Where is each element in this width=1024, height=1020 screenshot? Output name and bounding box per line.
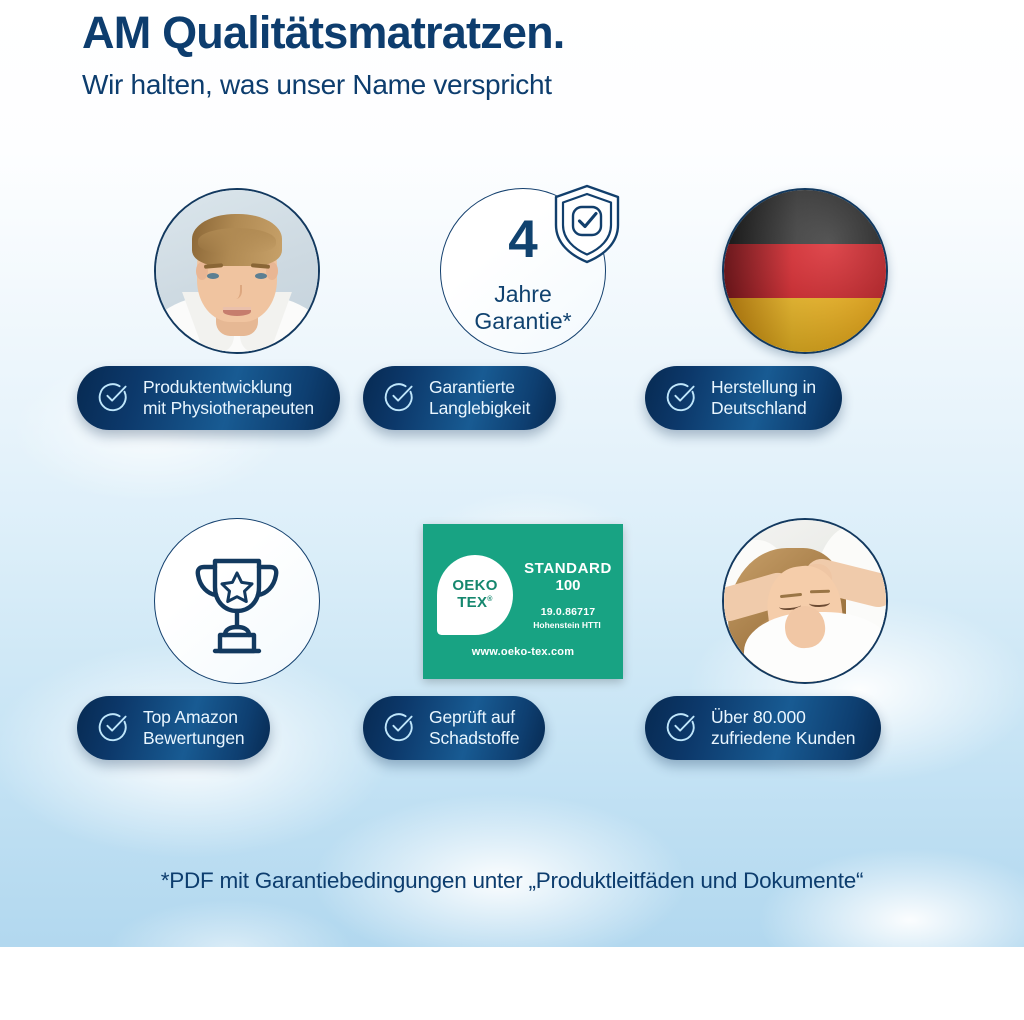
oeko-tex-label: OEKO TEX® STANDARD 100 19.0.86717 Hohens…	[423, 524, 623, 679]
pill-line-2: Bewertungen	[143, 728, 244, 748]
pill-line-2: Schadstoffe	[429, 728, 519, 748]
feature-media	[645, 176, 965, 366]
pill-line-1: Garantierte	[429, 377, 515, 397]
feature-pill[interactable]: Produktentwicklung mit Physiotherapeuten	[77, 366, 340, 430]
oeko-tex-standard-line-2: 100	[519, 577, 617, 595]
feature-pill-wrap: Garantierte Langlebigkeit	[363, 366, 683, 444]
oeko-tex-brand-line-2: TEX®	[457, 595, 493, 611]
pill-line-1: Produktentwicklung	[143, 377, 292, 397]
feature-media: 4 Jahre Garantie*	[363, 176, 683, 366]
feature-card-kunden: Über 80.000 zufriedene Kunden	[645, 506, 965, 774]
header: AM Qualitätsmatratzen. Wir halten, was u…	[82, 8, 565, 101]
check-circle-icon	[665, 380, 697, 417]
feature-pill-label: Über 80.000 zufriedene Kunden	[711, 707, 855, 750]
feature-pill-label: Geprüft auf Schadstoffe	[429, 707, 519, 750]
page-title: AM Qualitätsmatratzen.	[82, 8, 565, 58]
oeko-tex-standard-line-1: STANDARD	[519, 560, 617, 577]
pill-line-2: mit Physiotherapeuten	[143, 398, 314, 418]
feature-pill-wrap: Top Amazon Bewertungen	[77, 696, 397, 774]
feature-pill[interactable]: Top Amazon Bewertungen	[77, 696, 270, 760]
oeko-tex-brand-line-1: OEKO	[452, 578, 497, 594]
feature-pill-label: Produktentwicklung mit Physiotherapeuten	[143, 377, 314, 420]
feature-pill-label: Herstellung in Deutschland	[711, 377, 816, 420]
feature-pill[interactable]: Geprüft auf Schadstoffe	[363, 696, 545, 760]
feature-row-2: Top Amazon Bewertungen OEKO TEX® STANDAR…	[0, 506, 1024, 836]
pill-line-1: Top Amazon	[143, 707, 238, 727]
oeko-tex-url: www.oeko-tex.com	[423, 646, 623, 658]
pill-line-2: Deutschland	[711, 398, 807, 418]
feature-media	[77, 506, 397, 696]
feature-pill-wrap: Geprüft auf Schadstoffe	[363, 696, 683, 774]
feature-card-herstellung: Herstellung in Deutschland	[645, 176, 965, 444]
feature-media: OEKO TEX® STANDARD 100 19.0.86717 Hohens…	[363, 506, 683, 696]
registered-mark-icon: ®	[487, 596, 492, 603]
oeko-tex-certificate-number: 19.0.86717	[519, 606, 617, 618]
oeko-tex-drop-logo: OEKO TEX®	[437, 555, 513, 635]
feature-pill-label: Top Amazon Bewertungen	[143, 707, 244, 750]
oeko-tex-institute: Hohenstein HTTI	[513, 620, 621, 630]
feature-pill[interactable]: Über 80.000 zufriedene Kunden	[645, 696, 881, 760]
pill-line-2: Langlebigkeit	[429, 398, 530, 418]
oeko-tex-standard: STANDARD 100	[519, 560, 617, 595]
check-circle-icon	[383, 380, 415, 417]
shield-check-icon	[551, 183, 623, 270]
feature-card-garantie: 4 Jahre Garantie*	[363, 176, 683, 444]
pill-line-2: zufriedene Kunden	[711, 728, 855, 748]
feature-pill-label: Garantierte Langlebigkeit	[429, 377, 530, 420]
feature-pill-wrap: Produktentwicklung mit Physiotherapeuten	[77, 366, 397, 444]
guarantee-circle: 4 Jahre Garantie*	[440, 188, 606, 354]
guarantee-line-1: Jahre	[441, 281, 605, 308]
feature-row-1: Produktentwicklung mit Physiotherapeuten…	[0, 176, 1024, 506]
pill-line-1: Herstellung in	[711, 377, 816, 397]
portrait-female-sleeping-photo	[722, 518, 888, 684]
german-flag-icon	[722, 188, 888, 354]
check-circle-icon	[383, 710, 415, 747]
cloud-wisp	[60, 880, 400, 1020]
guarantee-line-2: Garantie*	[441, 308, 605, 335]
check-circle-icon	[97, 380, 129, 417]
footnote: *PDF mit Garantiebedingungen unter „Prod…	[0, 868, 1024, 894]
pill-line-1: Über 80.000	[711, 707, 806, 727]
feature-card-produktentwicklung: Produktentwicklung mit Physiotherapeuten	[77, 176, 397, 444]
feature-card-schadstoffe: OEKO TEX® STANDARD 100 19.0.86717 Hohens…	[363, 506, 683, 774]
feature-pill[interactable]: Herstellung in Deutschland	[645, 366, 842, 430]
feature-card-amazon: Top Amazon Bewertungen	[77, 506, 397, 774]
trophy-icon	[155, 519, 319, 683]
check-circle-icon	[665, 710, 697, 747]
feature-pill-wrap: Über 80.000 zufriedene Kunden	[645, 696, 965, 774]
feature-media	[77, 176, 397, 366]
page-subtitle: Wir halten, was unser Name verspricht	[82, 70, 565, 101]
portrait-male-photo	[154, 188, 320, 354]
trophy-circle	[154, 518, 320, 684]
feature-media	[645, 506, 965, 696]
feature-pill-wrap: Herstellung in Deutschland	[645, 366, 965, 444]
feature-pill[interactable]: Garantierte Langlebigkeit	[363, 366, 556, 430]
feature-grid: Produktentwicklung mit Physiotherapeuten…	[0, 176, 1024, 836]
pill-line-1: Geprüft auf	[429, 707, 515, 727]
check-circle-icon	[97, 710, 129, 747]
